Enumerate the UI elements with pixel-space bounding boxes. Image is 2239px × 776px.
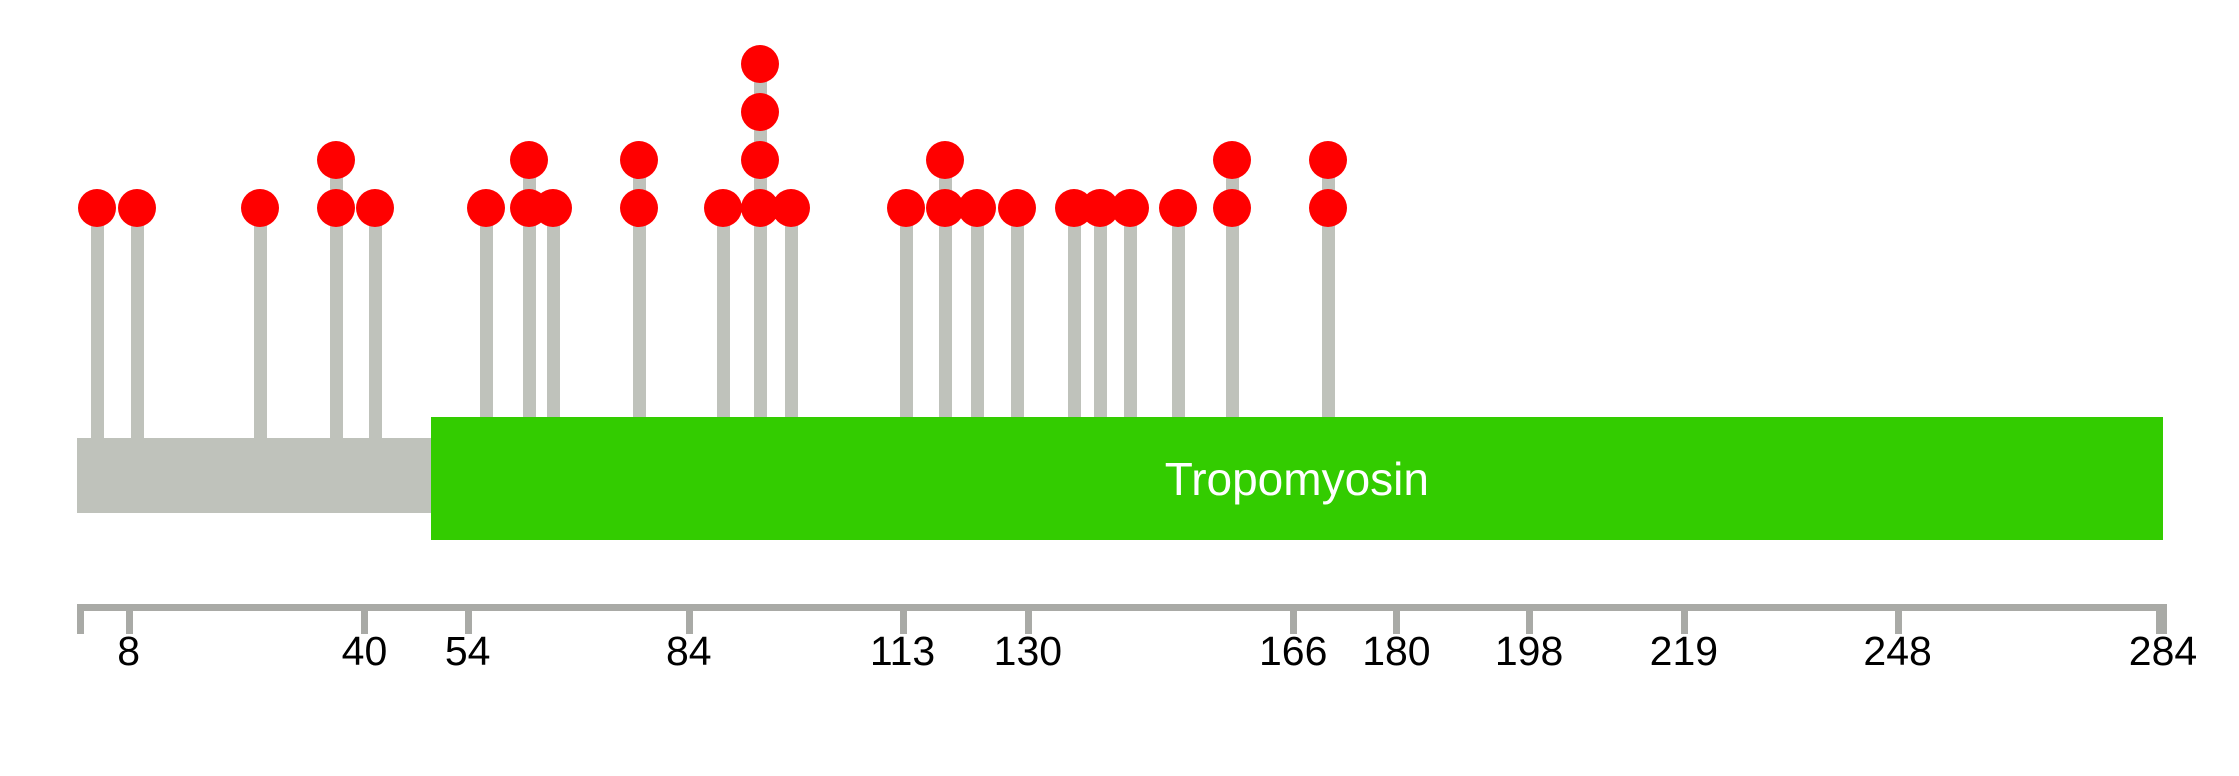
lollipop-head[interactable] xyxy=(741,141,779,179)
lollipop-head[interactable] xyxy=(1159,189,1197,227)
lollipop-stem xyxy=(971,208,984,450)
lollipop-head[interactable] xyxy=(510,141,548,179)
lollipop-stem xyxy=(254,208,267,450)
lollipop-stem xyxy=(131,208,144,450)
lollipop-stem xyxy=(480,208,493,450)
lollipop-head[interactable] xyxy=(241,189,279,227)
lollipop-head[interactable] xyxy=(741,45,779,83)
lollipop-head[interactable] xyxy=(958,189,996,227)
protein-backbone xyxy=(77,438,431,513)
lollipop-head[interactable] xyxy=(1111,189,1149,227)
lollipop-plot-figure: Tropomyosin 8405484113130166180198219248… xyxy=(0,0,2239,776)
lollipop-head[interactable] xyxy=(1309,141,1347,179)
lollipop-stem xyxy=(900,208,913,450)
lollipop-head[interactable] xyxy=(118,189,156,227)
lollipop-head[interactable] xyxy=(534,189,572,227)
lollipop-head[interactable] xyxy=(704,189,742,227)
lollipop-head[interactable] xyxy=(620,141,658,179)
axis-tick-label: 84 xyxy=(666,628,712,675)
lollipop-stem xyxy=(1172,208,1185,450)
lollipop-head[interactable] xyxy=(317,189,355,227)
lollipop-stem xyxy=(717,208,730,450)
lollipop-head[interactable] xyxy=(998,189,1036,227)
axis-tick-label: 113 xyxy=(870,628,935,675)
lollipop-stem xyxy=(1011,208,1024,450)
axis-tick-label: 8 xyxy=(117,628,140,675)
domain-tropomyosin[interactable]: Tropomyosin xyxy=(431,417,2163,540)
axis-tick-label: 166 xyxy=(1259,628,1327,675)
lollipop-head[interactable] xyxy=(620,189,658,227)
lollipop-head[interactable] xyxy=(772,189,810,227)
axis-tick-label: 180 xyxy=(1362,628,1430,675)
lollipop-stem xyxy=(547,208,560,450)
lollipop-head[interactable] xyxy=(741,93,779,131)
lollipop-head[interactable] xyxy=(467,189,505,227)
axis-tick-label: 248 xyxy=(1863,628,1931,675)
axis-line xyxy=(77,604,2163,611)
lollipop-head[interactable] xyxy=(356,189,394,227)
lollipop-head[interactable] xyxy=(887,189,925,227)
lollipop-head[interactable] xyxy=(1213,141,1251,179)
lollipop-head[interactable] xyxy=(317,141,355,179)
lollipop-head[interactable] xyxy=(926,141,964,179)
lollipop-head[interactable] xyxy=(1309,189,1347,227)
lollipop-stem xyxy=(785,208,798,450)
axis-start-cap xyxy=(77,604,84,634)
axis-tick-label: 284 xyxy=(2129,628,2197,675)
lollipop-head[interactable] xyxy=(78,189,116,227)
axis-tick-label: 54 xyxy=(445,628,491,675)
axis-tick-label: 219 xyxy=(1650,628,1718,675)
lollipop-stem xyxy=(369,208,382,450)
lollipop-head[interactable] xyxy=(1213,189,1251,227)
domain-label: Tropomyosin xyxy=(1165,452,1429,506)
axis-tick-label: 198 xyxy=(1495,628,1563,675)
axis-tick-label: 40 xyxy=(342,628,388,675)
axis-tick-label: 130 xyxy=(994,628,1062,675)
lollipop-stem xyxy=(91,208,104,450)
lollipop-stem xyxy=(1094,208,1107,450)
lollipop-stem xyxy=(1068,208,1081,450)
lollipop-stem xyxy=(1124,208,1137,450)
